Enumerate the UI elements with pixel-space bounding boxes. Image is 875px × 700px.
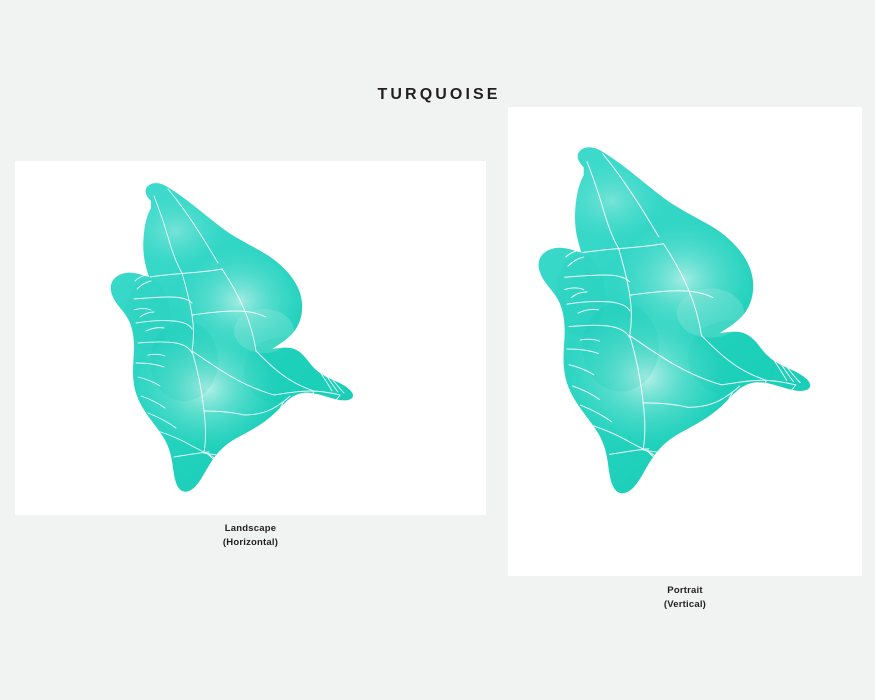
hawaii-island-map-landscape — [88, 165, 400, 503]
poster-portrait[interactable]: HAWAII — [508, 107, 862, 576]
caption-portrait-line2: (Vertical) — [508, 598, 862, 612]
map-stage-portrait: HAWAII — [508, 107, 862, 576]
page-title: TURQUOISE — [0, 86, 875, 104]
caption-portrait: Portrait (Vertical) — [508, 584, 862, 611]
caption-portrait-line1: Portrait — [508, 584, 862, 598]
caption-landscape-line2: (Horizontal) — [15, 536, 486, 550]
hawaii-island-map-portrait — [513, 127, 862, 506]
caption-landscape-line1: Landscape — [15, 522, 486, 536]
map-stage-landscape: HAWAII — [15, 161, 486, 515]
caption-landscape: Landscape (Horizontal) — [15, 522, 486, 549]
poster-landscape[interactable]: HAWAII — [15, 161, 486, 515]
